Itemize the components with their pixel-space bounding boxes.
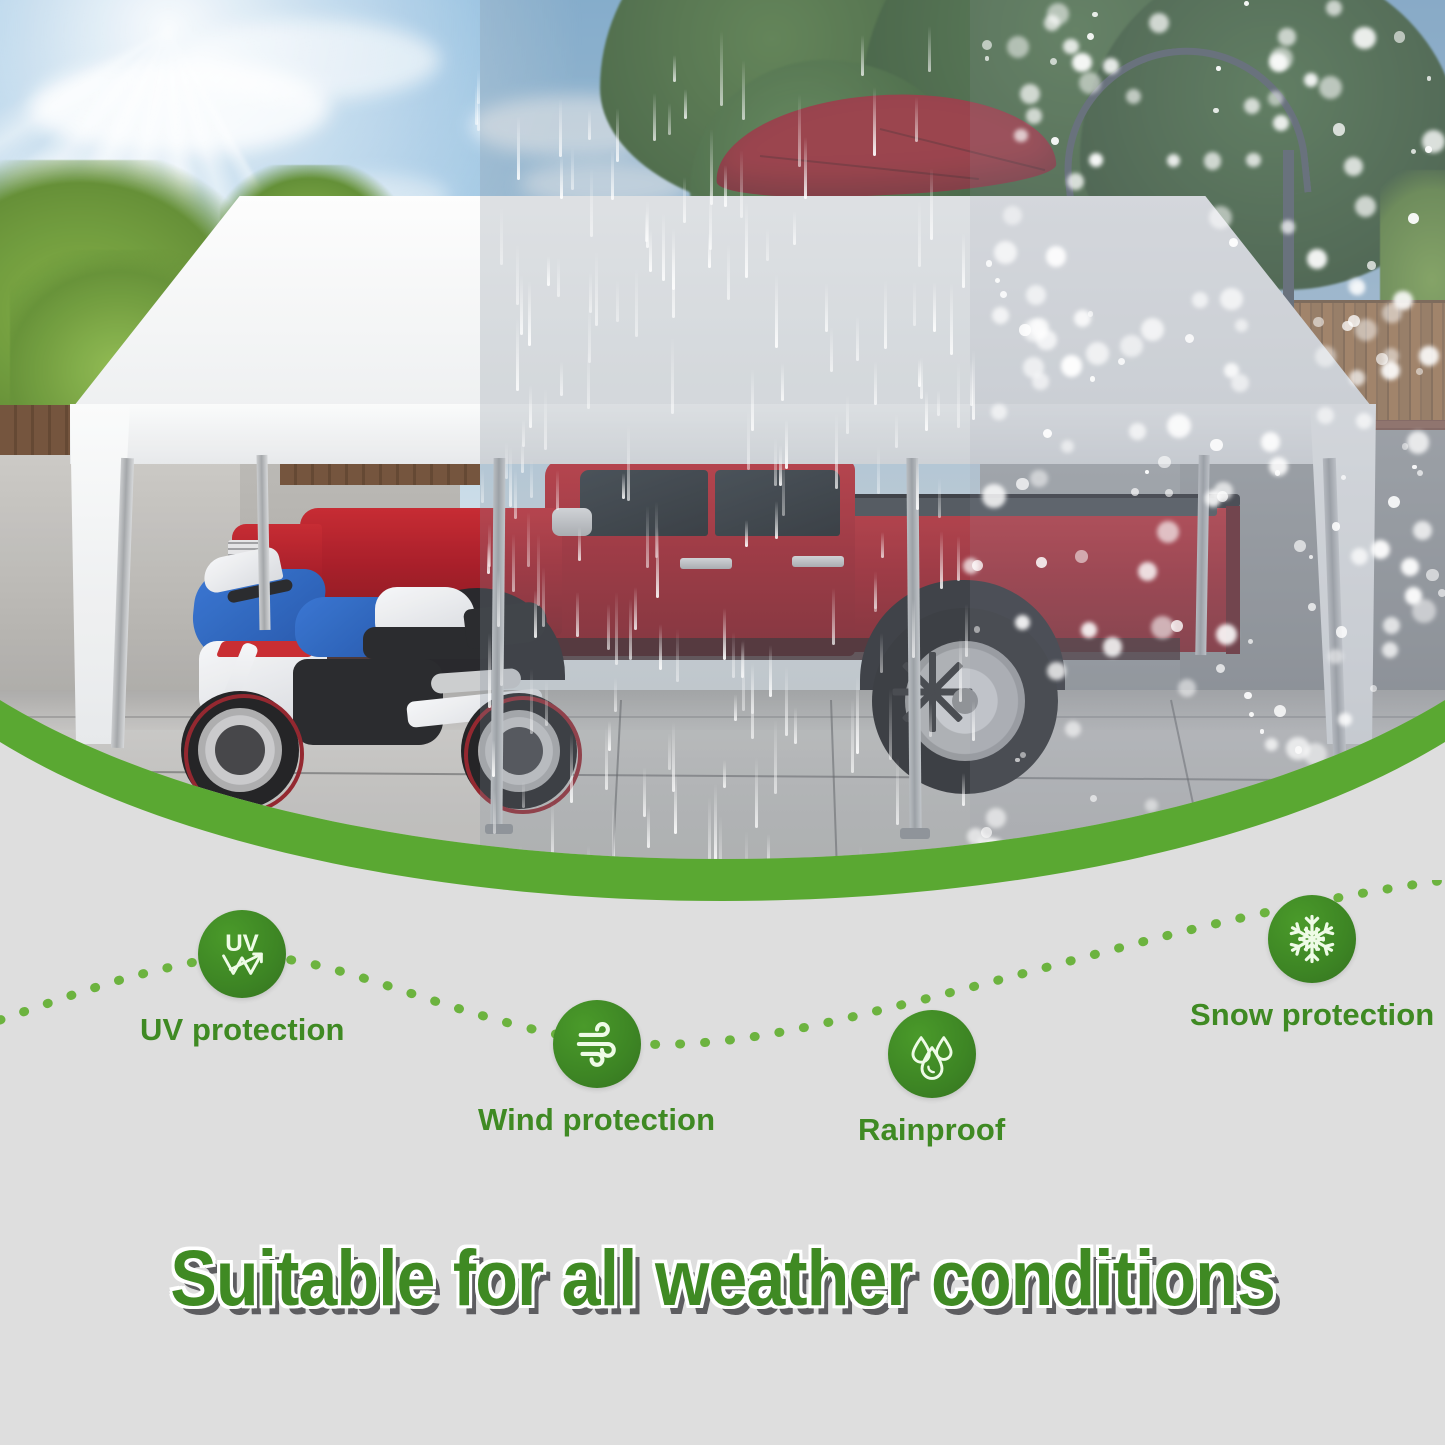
snow-flake [1244, 1, 1249, 6]
uv-badge: UV [198, 910, 286, 998]
rain-drop [928, 26, 931, 71]
snow-flake [1351, 548, 1369, 566]
snow-flake [1087, 33, 1094, 40]
rain-drop [950, 283, 953, 355]
rain-drop [861, 35, 864, 76]
rain-drop [785, 419, 788, 469]
rain-drop [798, 94, 801, 167]
rain-drop [542, 567, 545, 627]
rain-drop [622, 473, 625, 499]
rain-drop [782, 454, 785, 516]
snow-flake [1349, 370, 1365, 386]
snow-flake [1262, 874, 1266, 878]
snow-flake [1425, 798, 1438, 811]
feature-uv[interactable]: UV UV protection [140, 910, 345, 1048]
rain-drop [505, 442, 508, 479]
snow-flake [1126, 89, 1141, 104]
rain-drop [755, 758, 758, 827]
moto-front-disc [215, 725, 265, 775]
snow-flake [1129, 423, 1145, 439]
raindrops-icon [903, 1025, 961, 1083]
snow-flake [1356, 413, 1372, 429]
snow-flake [1260, 729, 1264, 733]
snow-flake [1216, 624, 1237, 645]
rain-drop [512, 534, 515, 592]
snow-flake [1275, 470, 1281, 476]
snow-flake [986, 808, 1005, 827]
snow-flake [1120, 335, 1143, 358]
snow-flake [1353, 27, 1376, 50]
rain-drop [747, 409, 750, 469]
rain-drop [896, 758, 899, 826]
rain-drop [672, 246, 675, 318]
snow-flake [1412, 465, 1416, 469]
snow-flake [1413, 521, 1432, 540]
snowflake-icon [1282, 909, 1342, 969]
rain-drop [683, 177, 686, 223]
rain-drop [671, 337, 674, 414]
rain-drop [497, 570, 500, 627]
rain-drop [509, 447, 512, 507]
rain-drop [493, 790, 496, 834]
snow-flake [1286, 737, 1309, 760]
rain-drop [668, 103, 671, 135]
rain-drop [514, 469, 517, 519]
snow-flake [1178, 679, 1196, 697]
rain-drop [516, 244, 519, 305]
rain-drop [607, 604, 610, 650]
snow-flake [995, 278, 1001, 284]
snow-flake [1044, 15, 1060, 31]
snow-flake [994, 241, 1017, 264]
snow-flake [1072, 53, 1092, 73]
snow-flake [1000, 291, 1007, 298]
snow-flake [1289, 803, 1299, 813]
snow-flake [1138, 562, 1158, 582]
snow-flake [1015, 615, 1031, 631]
rain-drop [571, 147, 574, 190]
rain-drop [781, 363, 784, 402]
feature-snow[interactable]: Snow protection [1190, 895, 1434, 1033]
feature-label-uv: UV protection [140, 1012, 345, 1048]
rain-drop [774, 719, 777, 794]
snow-flake [1185, 334, 1195, 344]
snow-flake [1103, 58, 1119, 74]
rain-drop [938, 478, 941, 518]
snow-flake [1043, 429, 1052, 438]
snow-flake [982, 40, 992, 50]
feature-rain[interactable]: Rainproof [858, 1010, 1005, 1148]
moto-front-wheel [181, 691, 299, 809]
rain-drop [708, 797, 711, 870]
snow-flake [1438, 722, 1445, 733]
rain-drop [500, 638, 503, 686]
snow-flake [1141, 318, 1164, 341]
snow-flake [1317, 407, 1334, 424]
snow-flake [972, 560, 983, 571]
snow-flake [1265, 738, 1278, 751]
snow-flake [1233, 844, 1253, 864]
snow-flake [1388, 496, 1400, 508]
rain-drop [537, 534, 540, 606]
rain-drop [714, 784, 717, 862]
snow-flake [1092, 12, 1097, 17]
snow-flake [1407, 813, 1429, 835]
rain-drop [589, 271, 592, 313]
uv-icon: UV [211, 923, 273, 985]
snow-flake [1315, 346, 1336, 367]
snow-flake [1157, 521, 1179, 543]
snow-flake [979, 840, 999, 860]
snow-flake [985, 56, 990, 61]
snow-flake [1023, 357, 1043, 377]
rain-drop [775, 501, 778, 538]
snow-flake [1333, 123, 1346, 136]
rain-drop [544, 388, 547, 450]
snow-flake [1341, 827, 1360, 846]
rain-drop [521, 441, 524, 473]
snow-flake [1249, 712, 1254, 717]
snow-flake [1216, 664, 1225, 673]
rain-drop [723, 760, 726, 787]
rain-drop [684, 89, 687, 120]
rain-drop [616, 108, 619, 163]
rain-drop [659, 624, 662, 670]
rain-drop [846, 395, 849, 433]
rain-drop [488, 633, 491, 708]
snow-flake [1256, 791, 1276, 811]
snow-flake [1269, 53, 1288, 72]
rain-drop [724, 165, 727, 207]
rain-drop [551, 803, 554, 856]
snow-flake [1357, 866, 1372, 881]
rain-drop [775, 274, 778, 348]
snow-flake [1328, 649, 1343, 664]
snow-flake [991, 404, 1007, 420]
snow-flake [1063, 39, 1079, 55]
snow-flake [1020, 752, 1026, 758]
poster-canvas: UV UV protection [0, 0, 1445, 1445]
rain-drop [742, 60, 745, 121]
snow-flake [1326, 0, 1342, 16]
feature-row: UV UV protection [0, 880, 1445, 1210]
rain-drop [895, 414, 898, 448]
rain-drop [918, 200, 921, 267]
rain-drop [576, 592, 579, 638]
rain-drop [915, 97, 918, 142]
rain-streaks [470, 0, 980, 945]
rain-drop [534, 590, 537, 637]
snow-flake [1370, 685, 1377, 692]
rain-drop [674, 773, 677, 833]
snow-flake [1192, 292, 1208, 308]
snow-flake [1274, 705, 1286, 717]
rain-drop [547, 256, 550, 287]
rain-drop [559, 99, 562, 157]
snow-flake [1061, 440, 1075, 454]
snow-flake [1079, 72, 1101, 94]
rain-drop [889, 689, 892, 760]
snow-flake [1081, 622, 1097, 638]
snow-flake [1235, 319, 1248, 332]
snow-flake [1016, 478, 1029, 491]
rain-drop [785, 666, 788, 736]
rain-drop [522, 781, 525, 808]
snow-flake [1411, 149, 1416, 154]
rain-drop [742, 639, 745, 712]
snow-flake [1036, 557, 1047, 568]
snow-flake [1422, 130, 1445, 153]
rain-drop [913, 281, 916, 326]
rain-drop [835, 413, 838, 489]
snow-flake [1419, 346, 1438, 365]
feature-label-rain: Rainproof [858, 1112, 1005, 1148]
rain-drop [477, 69, 480, 104]
snow-flake [1089, 153, 1103, 167]
rain-drop [794, 707, 797, 745]
rain-drop [655, 502, 658, 558]
rain-drop [723, 608, 726, 660]
snow-flake [1294, 540, 1306, 552]
rain-drop [635, 267, 638, 337]
snow-flake [1273, 115, 1289, 131]
snow-flake [1248, 639, 1253, 644]
snow-flake [986, 260, 992, 266]
snow-flake [1165, 489, 1173, 497]
rain-drop [856, 677, 859, 754]
snow-flake [1417, 470, 1423, 476]
snow-flake [1103, 637, 1123, 657]
snow-flake [1014, 129, 1027, 142]
snow-flake [1047, 662, 1065, 680]
cloud [180, 20, 440, 100]
snow-flake [1209, 206, 1232, 229]
snow-flake [1338, 713, 1352, 727]
snow-flake [1145, 799, 1158, 812]
rain-drop [719, 816, 722, 887]
rain-drop [766, 228, 769, 261]
rain-drop [556, 470, 559, 510]
snow-particles [960, 0, 1445, 945]
rain-drop [734, 694, 737, 720]
snow-flake [1019, 324, 1030, 335]
snow-flake [1319, 76, 1342, 99]
rain-drop [608, 721, 611, 751]
snow-flake [1423, 764, 1437, 778]
rain-drop [517, 116, 520, 180]
rain-drop [560, 155, 563, 199]
snow-flake [1229, 238, 1238, 247]
rain-drop [937, 390, 940, 416]
rain-drop [530, 669, 533, 734]
rain-drop [527, 512, 530, 567]
rain-drop [653, 93, 656, 141]
snow-flake [1046, 246, 1066, 266]
rain-drop [830, 327, 833, 372]
snow-flake [1332, 522, 1341, 531]
snow-flake [1205, 490, 1221, 506]
snow-flake [1086, 342, 1109, 365]
rain-drop [751, 662, 754, 714]
snow-flake [1075, 550, 1087, 562]
rain-drop [709, 190, 712, 250]
snow-flake [1050, 58, 1057, 65]
rain-drop [520, 275, 523, 335]
rain-drop [612, 803, 615, 864]
rain-drop [590, 168, 593, 237]
rain-drop [627, 424, 630, 502]
snow-flake [1342, 321, 1352, 331]
rain-drop [588, 110, 591, 141]
snow-flake [1281, 220, 1296, 235]
snow-flake [1131, 488, 1139, 496]
snow-flake [1149, 13, 1169, 33]
rain-drop [877, 446, 880, 494]
snow-flake [1126, 821, 1132, 827]
rain-drop [545, 680, 548, 726]
rain-drop [646, 506, 649, 567]
snow-flake [1342, 775, 1357, 790]
rain-drop [649, 229, 652, 272]
rain-drop [616, 280, 619, 322]
rain-drop [578, 527, 581, 561]
snow-flake [1308, 603, 1316, 611]
snow-flake [1428, 793, 1445, 813]
snow-flake [1392, 783, 1397, 788]
rain-drop [881, 532, 884, 558]
rain-drop [481, 469, 484, 503]
snow-flake [1090, 795, 1097, 802]
rain-drop [804, 137, 807, 198]
snow-flake [1261, 432, 1280, 451]
rain-drop [874, 578, 877, 608]
rain-drop [740, 150, 743, 218]
rain-drop [920, 357, 923, 398]
feature-label-snow: Snow protection [1190, 997, 1434, 1033]
snow-flake [1399, 761, 1415, 777]
snow-flake [1145, 470, 1149, 474]
rain-drop [856, 315, 859, 361]
rain-drop [611, 149, 614, 200]
rain-drop [793, 211, 796, 245]
snow-flake [1336, 626, 1348, 638]
snow-flake [1007, 36, 1029, 58]
snow-flake [1438, 589, 1445, 597]
rain-drop [825, 283, 828, 333]
snow-flake [1204, 152, 1221, 169]
snow-flake [1268, 91, 1283, 106]
snow-flake [1381, 361, 1400, 380]
product-photo [0, 0, 1445, 945]
snow-flake [1388, 781, 1397, 790]
snow-flake [1210, 439, 1223, 452]
rain-drop [530, 459, 533, 498]
snow-flake [1061, 355, 1083, 377]
rain-badge [888, 1010, 976, 1098]
snow-flake [1394, 31, 1406, 43]
snow-flake [1367, 261, 1375, 269]
snow-flake [1382, 303, 1402, 323]
snow-flake [1426, 569, 1438, 581]
rain-drop [916, 455, 919, 509]
rain-drop [488, 524, 491, 567]
rain-drop [634, 587, 637, 630]
snow-flake [1030, 470, 1047, 487]
snow-flake [1015, 758, 1019, 762]
rain-drop [832, 588, 835, 645]
snow-flake [1314, 852, 1337, 875]
snow-badge [1268, 895, 1356, 983]
rain-drop [614, 678, 617, 713]
rain-drop [516, 317, 519, 391]
rain-drop [732, 632, 735, 678]
rain-drop [528, 281, 531, 346]
rain-drop [645, 211, 648, 241]
snow-flake [992, 307, 1009, 324]
snow-flake [1246, 153, 1260, 167]
snow-flake [1355, 196, 1376, 217]
feature-label-wind: Wind protection [478, 1102, 715, 1138]
rain-drop [570, 733, 573, 803]
rain-drop [643, 767, 646, 816]
snow-flake [1151, 616, 1174, 639]
rain-drop [500, 207, 503, 265]
rain-drop [529, 385, 532, 428]
snow-flake [1147, 818, 1170, 841]
headline: Suitable for all weather conditions [0, 1238, 1445, 1318]
snow-flake [1158, 456, 1170, 468]
feature-wind[interactable]: Wind protection [478, 1000, 715, 1138]
snow-flake [1407, 431, 1430, 454]
rain-drop [880, 633, 883, 673]
snow-flake [1051, 137, 1059, 145]
rain-drop [745, 202, 748, 278]
rain-drop [676, 629, 679, 682]
rain-drop [595, 251, 598, 326]
rain-drop [557, 258, 560, 297]
snow-flake [1244, 98, 1260, 114]
snow-flake [1344, 157, 1363, 176]
snow-flake [1341, 475, 1346, 480]
rain-drop [751, 369, 754, 430]
snow-flake [1220, 288, 1243, 311]
snow-flake [1090, 376, 1095, 381]
snow-flake [1026, 285, 1046, 305]
headline-text: Suitable for all weather conditions [170, 1233, 1275, 1323]
snow-flake [1030, 318, 1049, 337]
snow-flake [1422, 723, 1434, 735]
snow-flake [1360, 793, 1373, 806]
snow-flake [1074, 310, 1091, 327]
rain-drop [925, 391, 928, 431]
snow-flake [1065, 721, 1081, 737]
rain-drop [930, 168, 933, 240]
snow-flake [1278, 28, 1295, 45]
snow-flake [1307, 249, 1326, 268]
snow-flake [1067, 173, 1084, 190]
snow-flake [1371, 540, 1390, 559]
snow-flake [1003, 206, 1022, 225]
snow-flake [1408, 213, 1419, 224]
snow-flake [1383, 617, 1400, 634]
snow-flake [1309, 555, 1314, 560]
snow-flake [1118, 358, 1125, 365]
snow-flake [1026, 108, 1041, 123]
wind-icon [568, 1015, 626, 1073]
snow-flake [1427, 76, 1432, 81]
rain-drop [873, 87, 876, 156]
rain-drop [933, 282, 936, 332]
